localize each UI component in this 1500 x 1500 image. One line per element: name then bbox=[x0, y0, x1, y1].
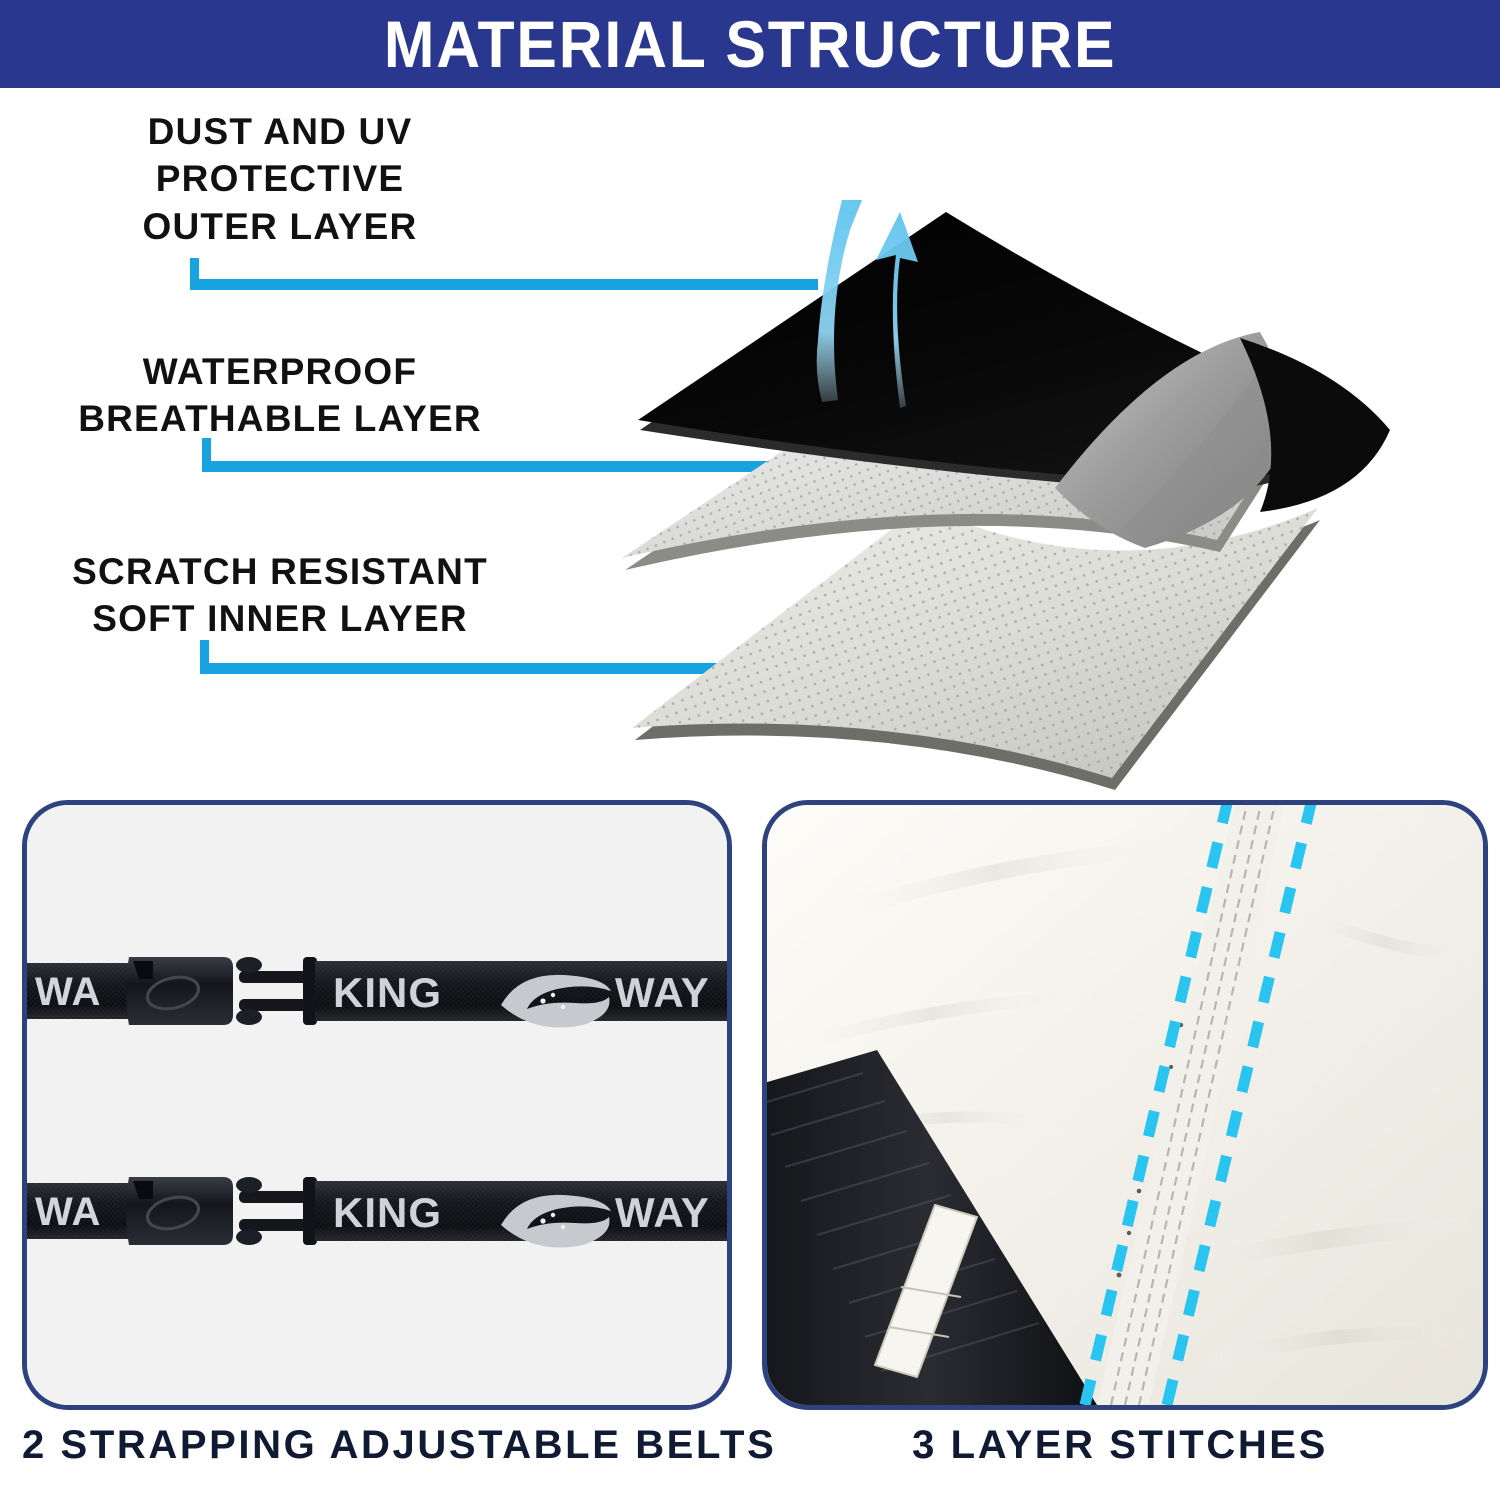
seam-stitching-photo bbox=[767, 805, 1483, 1405]
buckle-female-2 bbox=[126, 1177, 233, 1245]
svg-text:WA: WA bbox=[35, 970, 101, 1014]
svg-text:KING: KING bbox=[333, 969, 442, 1016]
buckle-female-1 bbox=[126, 957, 233, 1025]
page-title: MATERIAL STRUCTURE bbox=[384, 11, 1117, 77]
layer-label-outer: DUST AND UV PROTECTIVE OUTER LAYER bbox=[0, 108, 560, 250]
header-banner: MATERIAL STRUCTURE bbox=[0, 0, 1500, 88]
svg-text:WAY: WAY bbox=[615, 1189, 710, 1236]
feature-panel-stitches bbox=[762, 800, 1488, 1410]
svg-text:WAY: WAY bbox=[615, 969, 710, 1016]
layer-label-middle: WATERPROOF BREATHABLE LAYER bbox=[0, 348, 560, 443]
strap-assembly-1: WA KING WAY bbox=[27, 957, 727, 1028]
feature-panel-belts: WA KING WAY bbox=[22, 800, 732, 1410]
svg-text:WA: WA bbox=[35, 1190, 101, 1234]
caption-belts: 2 STRAPPING ADJUSTABLE BELTS bbox=[22, 1425, 722, 1465]
strap-buckle-photo: WA KING WAY bbox=[27, 805, 727, 1405]
strap-assembly-2: WA KING WAY bbox=[27, 1177, 727, 1248]
three-layer-fabric-diagram bbox=[600, 100, 1500, 790]
layer-label-inner: SCRATCH RESISTANT SOFT INNER LAYER bbox=[0, 548, 560, 643]
svg-text:KING: KING bbox=[333, 1189, 442, 1236]
caption-stitches: 3 LAYER STITCHES bbox=[762, 1425, 1478, 1465]
